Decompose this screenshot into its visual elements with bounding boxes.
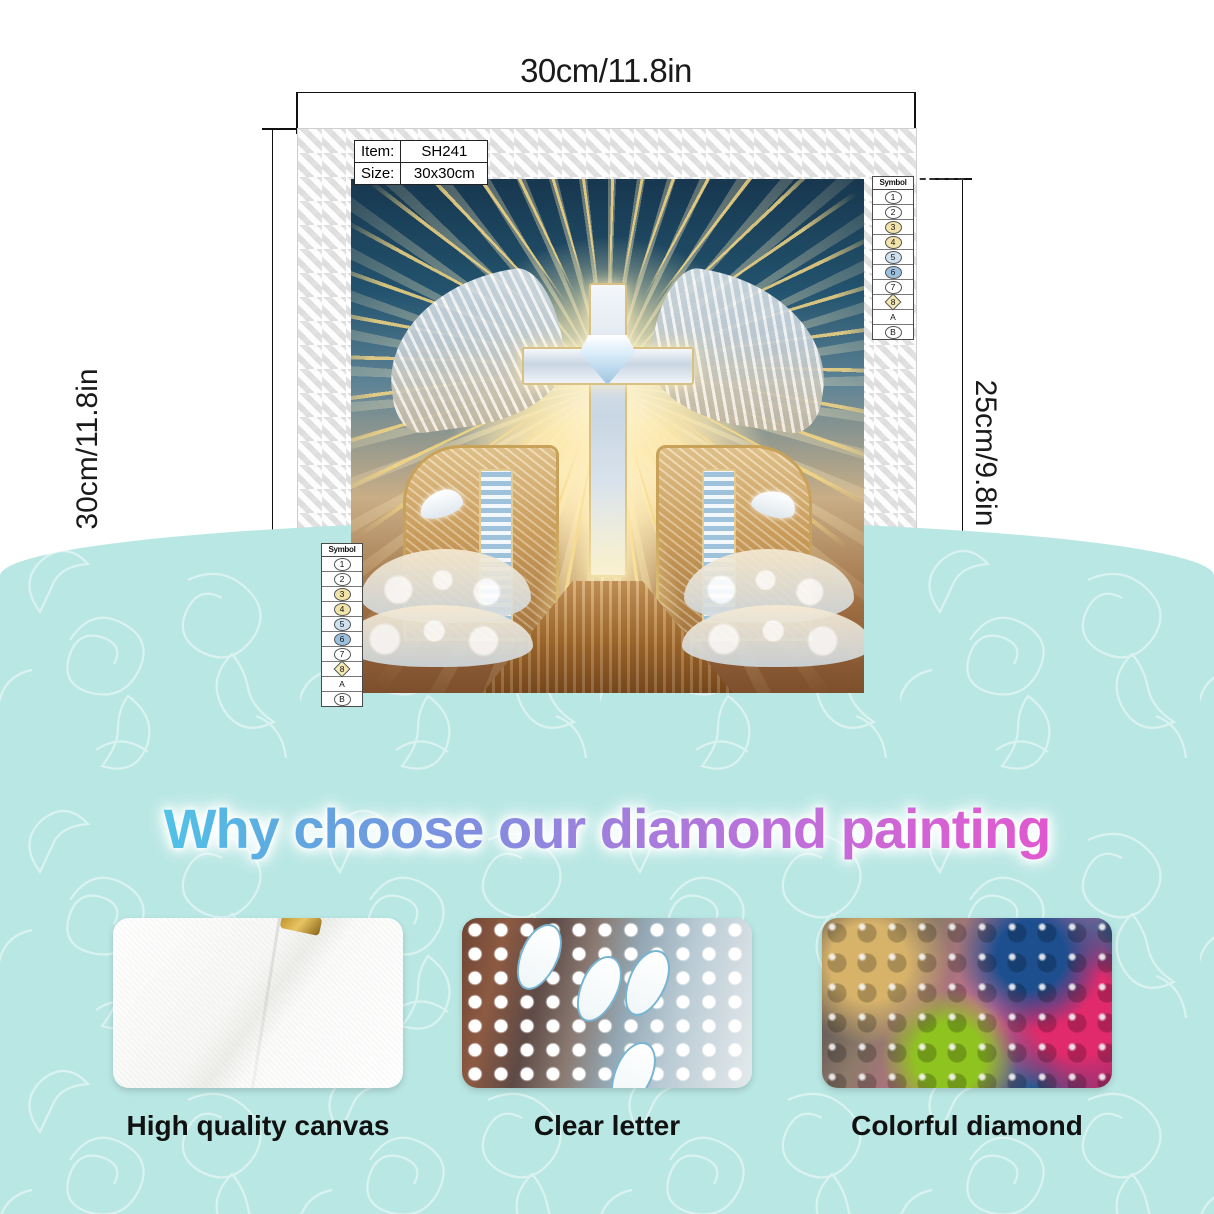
product-dimension-diagram: 30cm/11.8in 30cm/11.8in 25cm/9.8in Item:… [0, 0, 1214, 560]
feature-clear-letter: Clear letter [462, 918, 752, 1142]
info-item-value: SH241 [401, 141, 488, 163]
symbol-legend-row: 3 [873, 220, 913, 235]
thumbnail-colorful-drills [822, 918, 1112, 1088]
symbol-2-icon: 2 [334, 573, 351, 586]
symbol-legend-row: 6 [873, 265, 913, 280]
symbol-B-icon: B [885, 326, 902, 339]
symbol-legend-top: Symbol12345678AB [872, 176, 914, 340]
symbol-legend-row: 6 [322, 632, 362, 647]
symbol-legend-row: 2 [322, 572, 362, 587]
info-size-value: 30x30cm [401, 163, 488, 185]
symbol-legend-row: 1 [873, 190, 913, 205]
symbol-legend-row: 4 [873, 235, 913, 250]
symbol-legend-header: Symbol [873, 177, 913, 190]
thumbnail-numbered-drills [462, 918, 752, 1088]
symbol-B-icon: B [334, 693, 351, 706]
symbol-6-icon: 6 [885, 266, 902, 279]
feature-caption-2: Clear letter [462, 1110, 752, 1142]
diamond-painting-canvas: Item: SH241 Size: 30x30cm [297, 128, 917, 746]
symbol-5-icon: 5 [334, 618, 351, 631]
symbol-4-icon: 4 [885, 236, 902, 249]
symbol-legend-header: Symbol [322, 544, 362, 557]
info-row-size: Size: 30x30cm [355, 163, 488, 185]
symbol-4-icon: 4 [334, 603, 351, 616]
bead-highlights [822, 918, 1112, 1088]
symbol-7-icon: 7 [334, 648, 351, 661]
symbol-legend-row: 5 [873, 250, 913, 265]
dimension-line-top [296, 92, 916, 93]
symbol-1-icon: 1 [334, 558, 351, 571]
symbol-6-icon: 6 [334, 633, 351, 646]
artwork-image [351, 179, 864, 693]
info-item-key: Item: [355, 141, 401, 163]
thumbnail-canvas-fabric [113, 918, 403, 1088]
symbol-8-icon: 8 [334, 661, 351, 678]
symbol-8-icon: 8 [885, 294, 902, 311]
feature-colorful-diamond: Colorful diamond [822, 918, 1112, 1142]
symbol-7-icon: 7 [885, 281, 902, 294]
symbol-legend-row: 2 [873, 205, 913, 220]
symbol-A-icon: A [886, 312, 901, 323]
gold-drill-accent [280, 918, 323, 936]
symbol-legend-row: A [873, 310, 913, 325]
feature-high-quality-canvas: High quality canvas [113, 918, 403, 1142]
symbol-legend-bottom: Symbol12345678AB [321, 543, 363, 707]
symbol-A-icon: A [335, 679, 350, 690]
info-size-key: Size: [355, 163, 401, 185]
symbol-legend-row: 8 [873, 295, 913, 310]
promo-headline: Why choose our diamond painting [0, 796, 1214, 861]
feature-caption-3: Colorful diamond [822, 1110, 1112, 1142]
fabric-fold [247, 918, 283, 1088]
dimension-label-width: 30cm/11.8in [296, 52, 916, 90]
symbol-legend-row: 1 [322, 557, 362, 572]
symbol-legend-row: 4 [322, 602, 362, 617]
symbol-5-icon: 5 [885, 251, 902, 264]
symbol-legend-row: B [873, 325, 913, 339]
symbol-legend-row: 3 [322, 587, 362, 602]
symbol-3-icon: 3 [334, 588, 351, 601]
feature-caption-1: High quality canvas [113, 1110, 403, 1142]
symbol-legend-row: A [322, 677, 362, 692]
symbol-legend-row: 5 [322, 617, 362, 632]
symbol-legend-row: 8 [322, 662, 362, 677]
product-info-table: Item: SH241 Size: 30x30cm [354, 140, 488, 185]
info-row-item: Item: SH241 [355, 141, 488, 163]
symbol-3-icon: 3 [885, 221, 902, 234]
symbol-2-icon: 2 [885, 206, 902, 219]
dimension-tick-left-top [262, 128, 298, 130]
symbol-1-icon: 1 [885, 191, 902, 204]
symbol-legend-row: B [322, 692, 362, 706]
